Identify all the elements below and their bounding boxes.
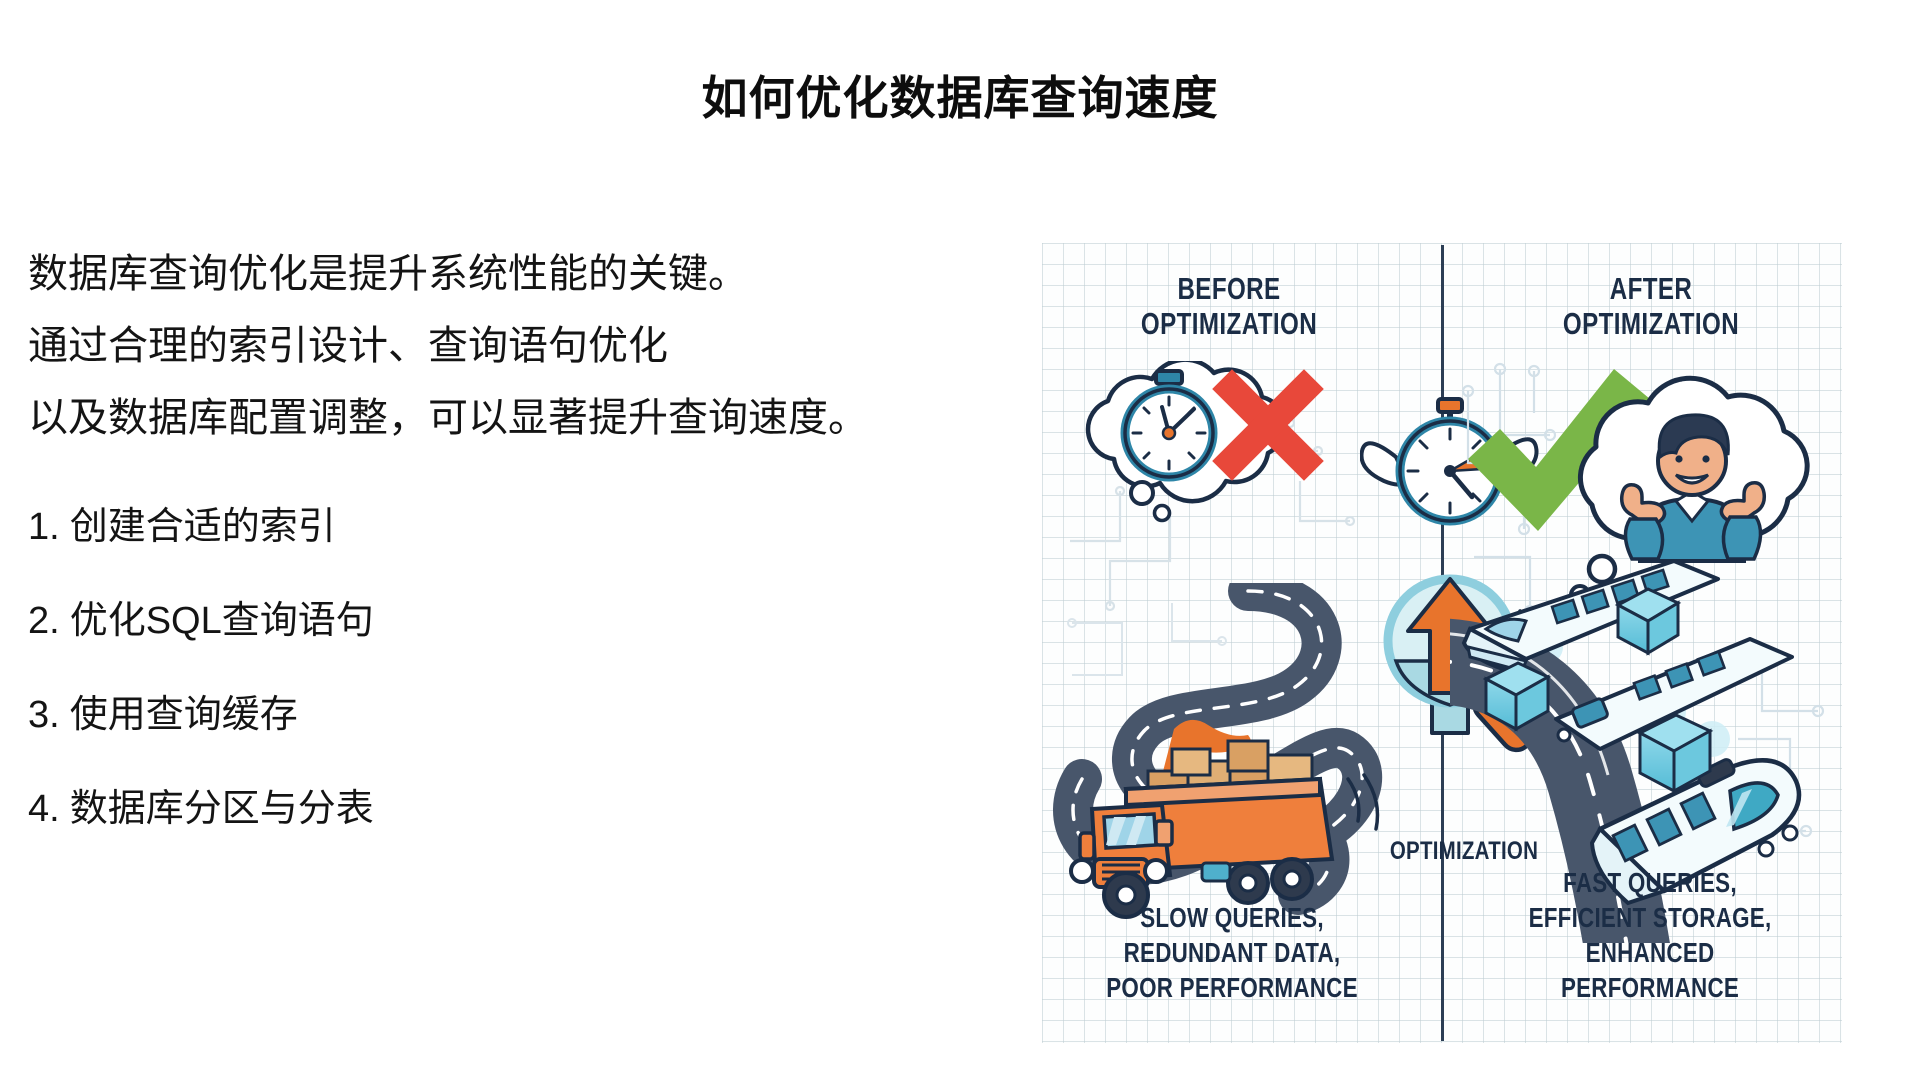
before-heading: BEFORE OPTIMIZATION: [1100, 271, 1357, 341]
list-item-marker: 4.: [28, 788, 60, 830]
after-caption-line2: EFFICIENT STORAGE,: [1506, 900, 1794, 935]
list-item-marker: 2.: [28, 600, 60, 642]
after-heading-line1: AFTER: [1522, 271, 1779, 306]
list-item: 4.数据库分区与分表: [28, 762, 988, 856]
list-item-label: 使用查询缓存: [70, 694, 298, 736]
intro-line-3: 以及数据库配置调整，可以显著提升查询速度。: [28, 382, 988, 454]
list-item-label: 优化SQL查询语句: [70, 600, 374, 642]
list-item-marker: 1.: [28, 506, 60, 548]
circuit-trace-decor: [1068, 603, 1226, 675]
after-caption-line1: FAST QUERIES,: [1506, 865, 1794, 900]
list-item: 2.优化SQL查询语句: [28, 574, 988, 668]
before-caption-line1: SLOW QUERIES,: [1088, 900, 1376, 935]
before-caption-line2: REDUNDANT DATA,: [1088, 935, 1376, 970]
list-item-label: 数据库分区与分表: [70, 788, 374, 830]
data-cube: [1618, 589, 1678, 653]
list-item-label: 创建合适的索引: [70, 506, 336, 548]
numbered-list: 1.创建合适的索引 2.优化SQL查询语句 3.使用查询缓存 4.数据库分区与分…: [28, 480, 988, 856]
content-column: 数据库查询优化是提升系统性能的关键。 通过合理的索引设计、查询语句优化 以及数据…: [28, 238, 988, 856]
after-heading-line2: OPTIMIZATION: [1522, 306, 1779, 341]
before-caption: SLOW QUERIES, REDUNDANT DATA, POOR PERFO…: [1088, 900, 1376, 1005]
optimization-infographic: BEFORE OPTIMIZATION AFTER OPTIMIZATION: [1042, 243, 1842, 1043]
after-heading: AFTER OPTIMIZATION: [1522, 271, 1779, 341]
intro-line-2: 通过合理的索引设计、查询语句优化: [28, 310, 988, 382]
after-caption-line3: ENHANCED PERFORMANCE: [1506, 935, 1794, 1005]
list-item: 1.创建合适的索引: [28, 480, 988, 574]
before-caption-line3: POOR PERFORMANCE: [1088, 970, 1376, 1005]
list-item-marker: 3.: [28, 694, 60, 736]
center-optimization-label: OPTIMIZATION: [1382, 837, 1546, 866]
list-item: 3.使用查询缓存: [28, 668, 988, 762]
after-caption: FAST QUERIES, EFFICIENT STORAGE, ENHANCE…: [1506, 865, 1794, 1005]
cargo-truck: [1071, 741, 1332, 917]
page-title: 如何优化数据库查询速度: [0, 62, 1920, 128]
before-heading-line2: OPTIMIZATION: [1100, 306, 1357, 341]
before-heading-line1: BEFORE: [1100, 271, 1357, 306]
high-speed-train-upper: [1464, 561, 1718, 673]
intro-line-1: 数据库查询优化是提升系统性能的关键。: [28, 238, 988, 310]
